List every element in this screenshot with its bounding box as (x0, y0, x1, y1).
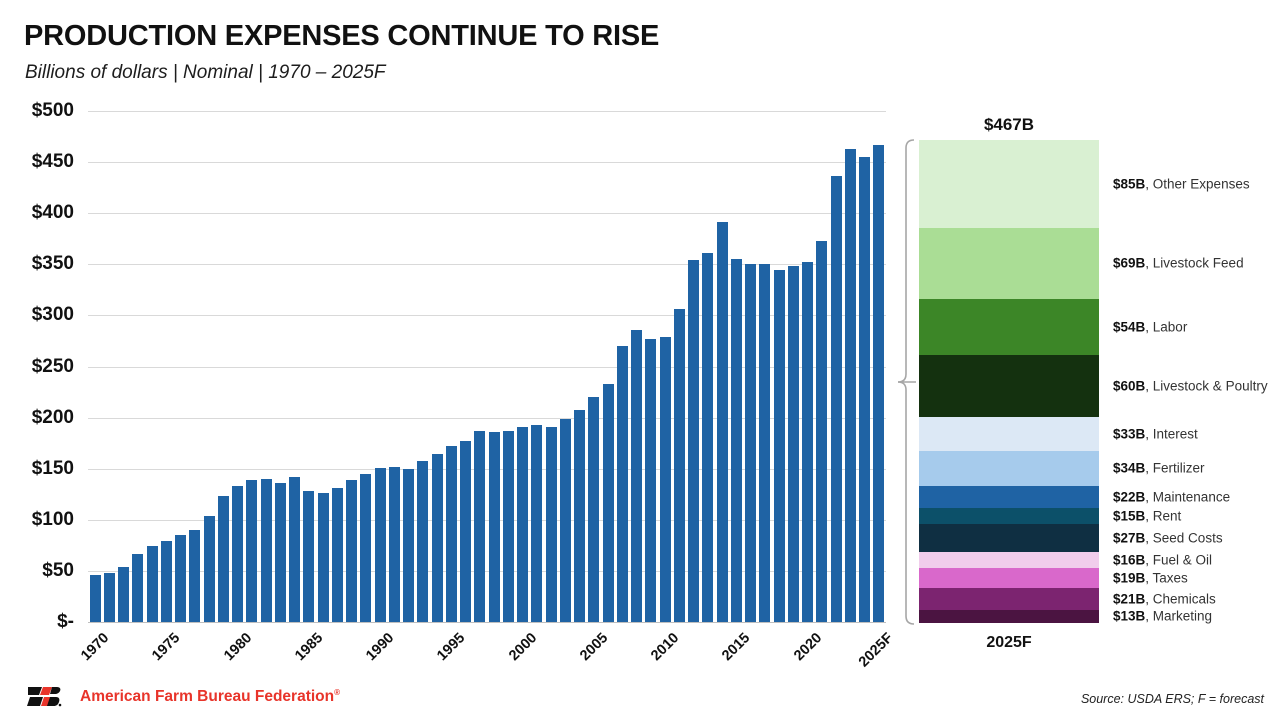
page-title: PRODUCTION EXPENSES CONTINUE TO RISE (24, 20, 659, 53)
stack-total-label: $467B (919, 115, 1099, 135)
bar-1977[interactable] (189, 530, 200, 622)
bar-1990[interactable] (375, 468, 386, 622)
segment-amount: $21B (1113, 591, 1145, 606)
stack-segment-chemicals[interactable] (919, 588, 1099, 610)
x-axis-tick-label-2020: 2020 (767, 630, 825, 688)
bar-2024[interactable] (859, 157, 870, 622)
stack-segment-fertilizer[interactable] (919, 451, 1099, 486)
segment-amount: $34B (1113, 461, 1145, 476)
stack-label-taxes: $19B, Taxes (1113, 571, 1188, 586)
bar-1980[interactable] (232, 486, 243, 622)
bar-1970[interactable] (90, 575, 101, 622)
bar-2007[interactable] (617, 346, 628, 622)
bar-2013[interactable] (702, 253, 713, 622)
stack-segment-labor[interactable] (919, 299, 1099, 355)
segment-amount: $19B (1113, 571, 1145, 586)
bar-2008[interactable] (631, 330, 642, 622)
bar-1975[interactable] (161, 541, 172, 622)
segment-name: , Labor (1145, 319, 1187, 334)
y-axis-tick-label: $- (0, 611, 74, 633)
gridline (88, 111, 886, 112)
stack-label-seed-costs: $27B, Seed Costs (1113, 530, 1223, 545)
stack-label-livestock-poultry: $60B, Livestock & Poultry (1113, 378, 1268, 393)
segment-amount: $13B (1113, 609, 1145, 624)
bar-2018[interactable] (774, 270, 785, 622)
bar-2022[interactable] (831, 176, 842, 622)
bar-1979[interactable] (218, 496, 229, 622)
bar-2019[interactable] (788, 266, 799, 622)
gridline (88, 213, 886, 214)
bar-chart-plot-area (88, 111, 886, 622)
bar-2000[interactable] (517, 427, 528, 622)
stack-segment-rent[interactable] (919, 508, 1099, 523)
x-axis-tick-label-1980: 1980 (197, 630, 255, 688)
source-note: Source: USDA ERS; F = forecast (1081, 692, 1264, 706)
y-axis-tick-label: $200 (0, 407, 74, 429)
bar-2016[interactable] (745, 264, 756, 622)
bar-1985[interactable] (303, 491, 314, 622)
stacked-column-2025f (919, 140, 1099, 622)
bar-2006[interactable] (603, 384, 614, 622)
segment-amount: $69B (1113, 256, 1145, 271)
x-axis-tick-label-2000: 2000 (482, 630, 540, 688)
stack-segment-taxes[interactable] (919, 568, 1099, 588)
segment-name: , Fuel & Oil (1145, 553, 1212, 568)
bar-2002[interactable] (546, 427, 557, 622)
afbf-org-name: American Farm Bureau Federation (80, 688, 334, 705)
stack-label-livestock-feed: $69B, Livestock Feed (1113, 256, 1244, 271)
x-axis-tick-label-1985: 1985 (268, 630, 326, 688)
bar-1971[interactable] (104, 573, 115, 622)
stack-segment-livestock-feed[interactable] (919, 228, 1099, 299)
bar-1974[interactable] (147, 546, 158, 622)
segment-amount: $60B (1113, 378, 1145, 393)
bar-2017[interactable] (759, 264, 770, 622)
bar-1981[interactable] (246, 480, 257, 622)
bar-1976[interactable] (175, 535, 186, 622)
bar-1987[interactable] (332, 488, 343, 622)
chart-page: PRODUCTION EXPENSES CONTINUE TO RISE Bil… (0, 0, 1280, 720)
x-axis-tick-label-1970: 1970 (54, 630, 112, 688)
bar-2025F[interactable] (873, 145, 884, 622)
stack-label-rent: $15B, Rent (1113, 509, 1181, 524)
bar-1983[interactable] (275, 483, 286, 622)
y-axis-tick-label: $350 (0, 253, 74, 275)
bar-2009[interactable] (645, 339, 656, 622)
segment-name: , Maintenance (1145, 490, 1230, 505)
bracket-connector (884, 138, 918, 626)
bar-2014[interactable] (717, 222, 728, 622)
bar-1986[interactable] (318, 493, 329, 622)
bar-1982[interactable] (261, 479, 272, 622)
bar-2023[interactable] (845, 149, 856, 622)
y-axis-tick-label: $150 (0, 458, 74, 480)
page-subtitle: Billions of dollars | Nominal | 1970 – 2… (25, 62, 386, 84)
bar-2011[interactable] (674, 309, 685, 622)
bar-2004[interactable] (574, 410, 585, 622)
bar-1973[interactable] (132, 554, 143, 622)
bar-2001[interactable] (531, 425, 542, 622)
segment-name: , Interest (1145, 426, 1198, 441)
segment-name: , Seed Costs (1145, 530, 1222, 545)
segment-amount: $33B (1113, 426, 1145, 441)
y-axis-tick-label: $100 (0, 509, 74, 531)
bar-2012[interactable] (688, 260, 699, 622)
segment-name: , Chemicals (1145, 591, 1216, 606)
stack-label-fuel-oil: $16B, Fuel & Oil (1113, 553, 1212, 568)
x-axis-tick-label-2015: 2015 (696, 630, 754, 688)
segment-amount: $85B (1113, 176, 1145, 191)
segment-amount: $16B (1113, 553, 1145, 568)
x-axis-tick-label-2010: 2010 (624, 630, 682, 688)
bar-1998[interactable] (489, 432, 500, 622)
stack-segment-interest[interactable] (919, 417, 1099, 451)
x-axis-tick-label-1995: 1995 (411, 630, 469, 688)
stack-segment-marketing[interactable] (919, 610, 1099, 623)
segment-amount: $27B (1113, 530, 1145, 545)
bar-1993[interactable] (417, 461, 428, 622)
bar-1989[interactable] (360, 474, 371, 622)
x-axis-tick-label-1990: 1990 (339, 630, 397, 688)
segment-name: , Other Expenses (1145, 176, 1249, 191)
stack-label-maintenance: $22B, Maintenance (1113, 490, 1230, 505)
afbf-logo-icon (26, 684, 62, 710)
stack-segment-livestock-poultry[interactable] (919, 355, 1099, 417)
y-axis-tick-label: $300 (0, 304, 74, 326)
y-axis-labels: $500$450$400$350$300$250$200$150$100$50$… (0, 111, 80, 622)
x-axis-tick-label-1975: 1975 (126, 630, 184, 688)
stack-segment-fuel-oil[interactable] (919, 552, 1099, 569)
y-axis-tick-label: $250 (0, 356, 74, 378)
stack-footer-label: 2025F (919, 634, 1099, 652)
bar-1997[interactable] (474, 431, 485, 622)
x-axis-line (88, 622, 886, 623)
stack-label-fertilizer: $34B, Fertilizer (1113, 461, 1205, 476)
bar-1992[interactable] (403, 469, 414, 622)
bar-1995[interactable] (446, 446, 457, 622)
stack-label-interest: $33B, Interest (1113, 426, 1198, 441)
stack-segment-seed-costs[interactable] (919, 524, 1099, 552)
afbf-wordmark: American Farm Bureau Federation® (80, 688, 340, 706)
segment-name: , Livestock & Poultry (1145, 378, 1267, 393)
y-axis-tick-label: $400 (0, 202, 74, 224)
segment-amount: $15B (1113, 509, 1145, 524)
stack-label-chemicals: $21B, Chemicals (1113, 591, 1216, 606)
x-axis-tick-label-2005: 2005 (553, 630, 611, 688)
gridline (88, 162, 886, 163)
bar-1984[interactable] (289, 477, 300, 622)
bar-2020[interactable] (802, 262, 813, 622)
segment-name: , Taxes (1145, 571, 1188, 586)
bar-1994[interactable] (432, 454, 443, 622)
y-axis-tick-label: $50 (0, 560, 74, 582)
stack-label-marketing: $13B, Marketing (1113, 609, 1212, 624)
stack-label-labor: $54B, Labor (1113, 319, 1187, 334)
segment-amount: $54B (1113, 319, 1145, 334)
bar-1996[interactable] (460, 441, 471, 622)
bar-2015[interactable] (731, 259, 742, 622)
segment-name: , Marketing (1145, 609, 1212, 624)
bar-1972[interactable] (118, 567, 129, 622)
bar-1978[interactable] (204, 516, 215, 622)
bar-1988[interactable] (346, 480, 357, 622)
bar-2021[interactable] (816, 241, 827, 622)
segment-name: , Fertilizer (1145, 461, 1204, 476)
bar-1991[interactable] (389, 467, 400, 622)
segment-amount: $22B (1113, 490, 1145, 505)
y-axis-tick-label: $450 (0, 151, 74, 173)
stack-segment-maintenance[interactable] (919, 486, 1099, 509)
stack-label-other-expenses: $85B, Other Expenses (1113, 176, 1250, 191)
bar-2005[interactable] (588, 397, 599, 622)
stack-segment-other-expenses[interactable] (919, 140, 1099, 228)
trademark-symbol: ® (334, 688, 340, 697)
bar-1999[interactable] (503, 431, 514, 622)
segment-name: , Livestock Feed (1145, 256, 1243, 271)
bar-2010[interactable] (660, 337, 671, 622)
x-axis-tick-label-2025F: 2025F (838, 630, 896, 688)
bar-2003[interactable] (560, 419, 571, 622)
segment-name: , Rent (1145, 509, 1181, 524)
y-axis-tick-label: $500 (0, 100, 74, 122)
